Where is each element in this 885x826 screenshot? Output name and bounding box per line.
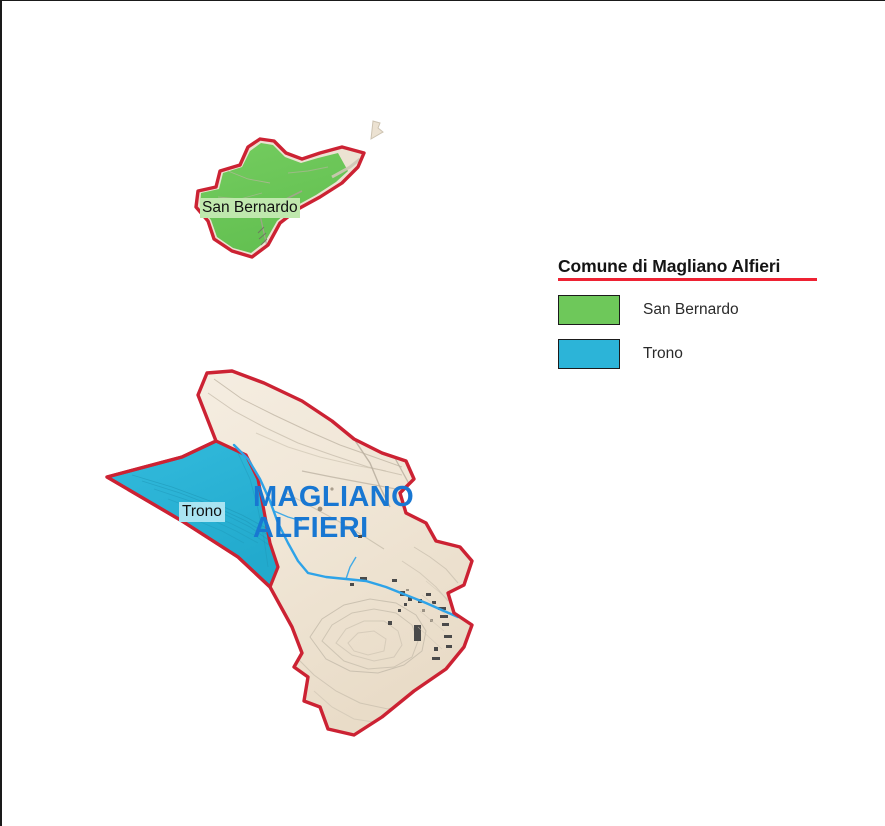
polygon-san-bernardo[interactable] xyxy=(196,139,364,257)
map-canvas[interactable] xyxy=(2,1,885,826)
legend-item-trono[interactable]: Trono xyxy=(558,339,858,369)
polygon-magliano-alfieri[interactable] xyxy=(107,371,472,735)
legend-swatch-trono xyxy=(558,339,620,369)
map-page: San Bernardo Trono MAGLIANO ALFIERI Comu… xyxy=(0,0,885,826)
legend-item-san-bernardo[interactable]: San Bernardo xyxy=(558,295,858,325)
legend-label-trono: Trono xyxy=(643,345,683,363)
legend-title: Comune di Magliano Alfieri xyxy=(558,256,858,276)
map-legend: Comune di Magliano Alfieri San Bernardo … xyxy=(558,256,858,369)
legend-title-underline xyxy=(558,278,817,281)
polygon-sliver-fragment xyxy=(371,121,383,139)
main-terrain-fill xyxy=(107,371,472,735)
legend-swatch-san-bernardo xyxy=(558,295,620,325)
legend-label-san-bernardo: San Bernardo xyxy=(643,301,739,319)
